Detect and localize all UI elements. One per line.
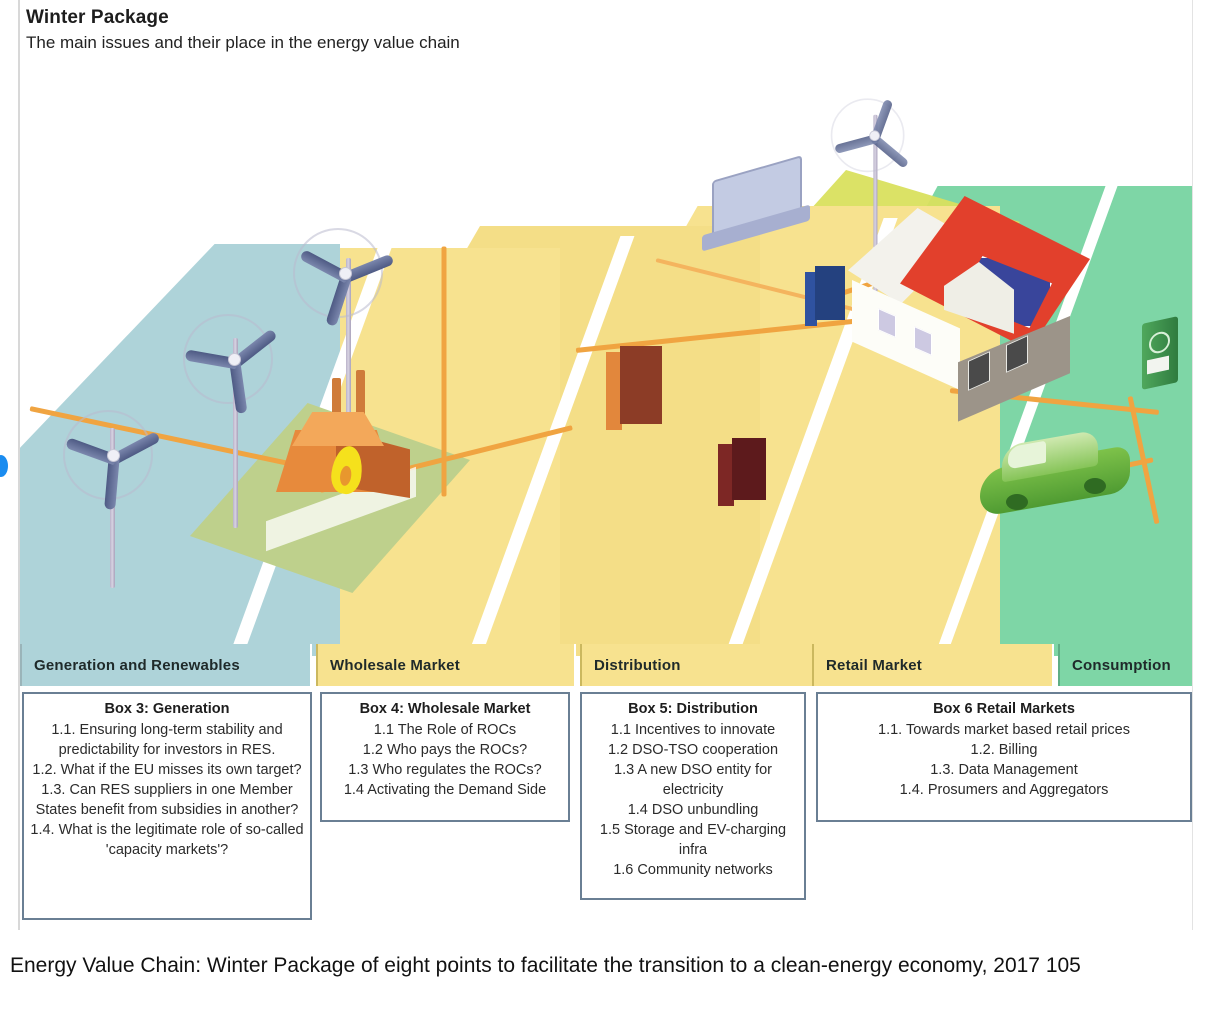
- box-item: 1.1 The Role of ROCs: [328, 720, 562, 740]
- box-item: 1.2 Who pays the ROCs?: [328, 740, 562, 760]
- box-item: 1.2. Billing: [824, 740, 1184, 760]
- page-title: Winter Package: [26, 6, 786, 30]
- value-chain-label-row: Generation and Renewables Wholesale Mark…: [20, 644, 1192, 686]
- house-icon: [848, 208, 1098, 438]
- transformer-box-icon: [620, 346, 662, 424]
- wind-turbine-icon: [52, 388, 172, 578]
- energy-value-chain-illustration: [20, 58, 1192, 686]
- turbine-hub: [339, 267, 352, 280]
- figure-heading: Winter Package The main issues and their…: [26, 6, 786, 54]
- box-item: 1.1. Towards market based retail prices: [824, 720, 1184, 740]
- plant-roof: [292, 412, 384, 446]
- blue-marker-dot: [0, 455, 8, 477]
- box-title: Box 6 Retail Markets: [824, 700, 1184, 719]
- car-wheel: [1084, 478, 1106, 494]
- control-cabinet-icon: [815, 266, 845, 320]
- turbine-hub: [869, 130, 880, 141]
- box-6-retail-markets: Box 6 Retail Markets 1.1. Towards market…: [816, 692, 1192, 822]
- ev-charger-icon: [1142, 320, 1182, 400]
- turbine-hub: [107, 449, 120, 462]
- box-5-distribution: Box 5: Distribution 1.1 Incentives to in…: [580, 692, 806, 900]
- box-item: 1.3 A new DSO entity for electricity: [588, 760, 798, 800]
- stage-label-text: Retail Market: [826, 657, 922, 674]
- stage-label-text: Generation and Renewables: [34, 657, 240, 674]
- page-subtitle: The main issues and their place in the e…: [26, 31, 786, 54]
- box-item: 1.1. Ensuring long-term stability and pr…: [30, 720, 304, 760]
- charger-post: [1142, 316, 1178, 390]
- box-front: [732, 438, 766, 500]
- box-item: 1.3. Data Management: [824, 760, 1184, 780]
- gas-power-plant-icon: [270, 378, 470, 578]
- box-item: 1.3 Who regulates the ROCs?: [328, 760, 562, 780]
- electric-car-icon: [980, 436, 1150, 526]
- stage-label-wholesale: Wholesale Market: [316, 644, 576, 686]
- stage-label-generation: Generation and Renewables: [20, 644, 312, 686]
- figure-container: Winter Package The main issues and their…: [20, 0, 1193, 930]
- stage-label-text: Distribution: [594, 657, 681, 674]
- box-item: 1.1 Incentives to innovate: [588, 720, 798, 740]
- box-front: [815, 266, 845, 320]
- box-item: 1.4 DSO unbundling: [588, 800, 798, 820]
- box-title: Box 4: Wholesale Market: [328, 700, 562, 719]
- box-item: 1.2. What if the EU misses its own targe…: [30, 760, 304, 780]
- box-item: 1.2 DSO-TSO cooperation: [588, 740, 798, 760]
- box-item: 1.4. What is the legitimate role of so-c…: [30, 820, 304, 860]
- turbine-hub: [228, 353, 241, 366]
- stage-label-distribution: Distribution: [580, 644, 828, 686]
- box-title: Box 5: Distribution: [588, 700, 798, 719]
- car-wheel: [1006, 494, 1028, 510]
- stage-label-text: Wholesale Market: [330, 657, 460, 674]
- box-item: 1.4 Activating the Demand Side: [328, 780, 562, 800]
- page-root: Winter Package The main issues and their…: [0, 0, 1205, 1032]
- stage-label-text: Consumption: [1072, 657, 1171, 674]
- box-4-wholesale-market: Box 4: Wholesale Market 1.1 The Role of …: [320, 692, 570, 822]
- box-item: 1.4. Prosumers and Aggregators: [824, 780, 1184, 800]
- figure-caption: Energy Value Chain: Winter Package of ei…: [10, 948, 1170, 984]
- box-front: [620, 346, 662, 424]
- box-title: Box 3: Generation: [30, 700, 304, 719]
- box-item: 1.3. Can RES suppliers in one Member Sta…: [30, 780, 304, 820]
- issue-boxes: Box 3: Generation 1.1. Ensuring long-ter…: [20, 692, 1192, 922]
- box-item: 1.6 Community networks: [588, 860, 798, 880]
- stage-label-retail: Retail Market: [812, 644, 1054, 686]
- substation-box-icon: [732, 438, 766, 500]
- box-3-generation: Box 3: Generation 1.1. Ensuring long-ter…: [22, 692, 312, 920]
- laptop-icon: [712, 168, 822, 248]
- stage-label-consumption: Consumption: [1058, 644, 1192, 686]
- box-item: 1.5 Storage and EV-charging infra: [588, 820, 798, 860]
